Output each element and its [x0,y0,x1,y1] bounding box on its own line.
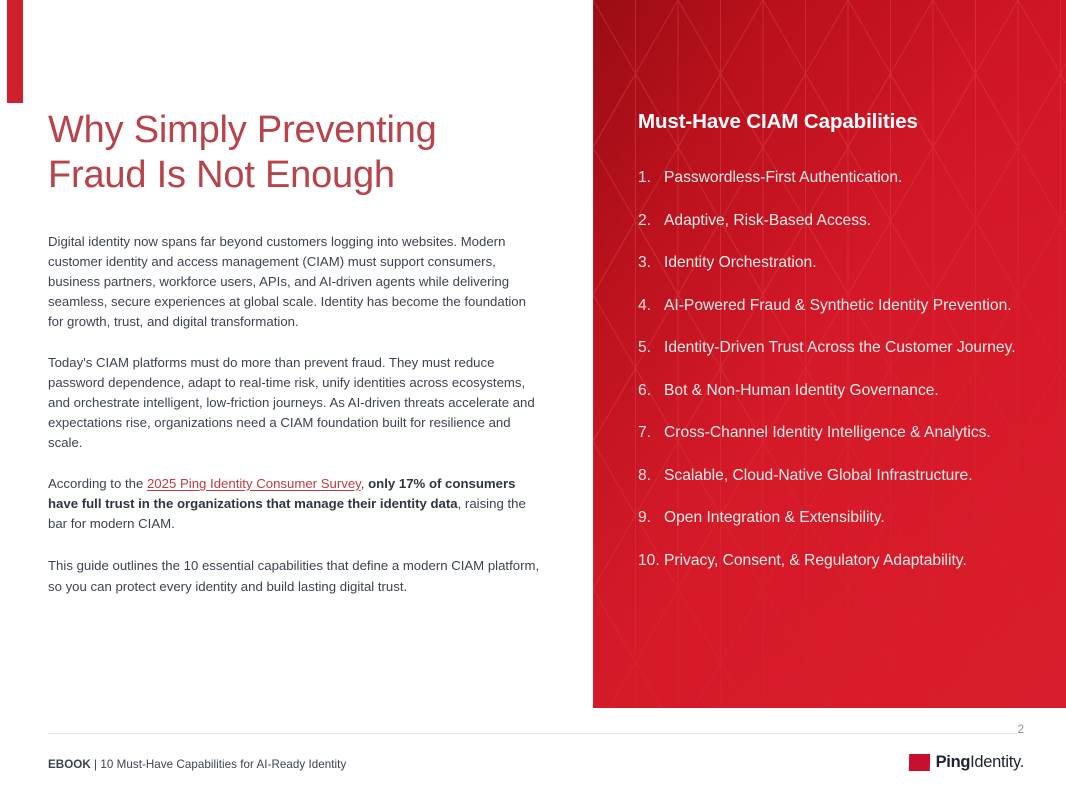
page-number: 2 [1018,724,1024,736]
paragraph-3-comma: , [361,476,368,491]
list-item-label: AI-Powered Fraud & Synthetic Identity Pr… [664,295,1036,317]
list-item-label: Privacy, Consent, & Regulatory Adaptabil… [664,550,1036,572]
list-item: 1. Passwordless-First Authentication. [638,167,1036,189]
list-item-label: Open Integration & Extensibility. [664,507,1036,529]
footer-label: EBOOK | 10 Must-Have Capabilities for AI… [48,758,346,771]
list-item-number: 1. [638,167,664,189]
logo-brand-ping: Ping [936,753,971,771]
paragraph-3: According to the 2025 Ping Identity Cons… [48,474,540,535]
footer-label-strong: EBOOK [48,758,91,771]
list-item-number: 3. [638,252,664,274]
list-item-label: Identity Orchestration. [664,252,1036,274]
ebook-page: Why Simply Preventing Fraud Is Not Enoug… [0,0,1066,800]
list-item-number: 10. [638,550,664,572]
paragraph-2: Today's CIAM platforms must do more than… [48,353,540,454]
list-item-number: 6. [638,380,664,402]
list-item-number: 4. [638,295,664,317]
list-item-label: Identity-Driven Trust Across the Custome… [664,337,1036,359]
list-item-number: 8. [638,465,664,487]
ping-logo-mark-icon [908,754,929,771]
paragraph-4: This guide outlines the 10 essential cap… [48,556,540,596]
capabilities-heading: Must-Have CIAM Capabilities [638,110,1036,134]
list-item: 9. Open Integration & Extensibility. [638,507,1036,529]
list-item-number: 9. [638,507,664,529]
list-item-label: Cross-Channel Identity Intelligence & An… [664,422,1036,444]
logo-brand-identity: Identity. [970,753,1024,771]
list-item: 10. Privacy, Consent, & Regulatory Adapt… [638,550,1036,572]
list-item: 5. Identity-Driven Trust Across the Cust… [638,337,1036,359]
list-item-number: 7. [638,422,664,444]
list-item-number: 5. [638,337,664,359]
list-item: 7. Cross-Channel Identity Intelligence &… [638,422,1036,444]
paragraph-1: Digital identity now spans far beyond cu… [48,232,540,333]
ping-identity-logo: PingIdentity. [909,752,1024,772]
ping-logo-text: PingIdentity. [936,753,1024,772]
list-item: 6. Bot & Non-Human Identity Governance. [638,380,1036,402]
paragraph-3-lead: According to the [48,476,147,491]
body-copy: Digital identity now spans far beyond cu… [48,232,540,597]
footer-divider [48,733,1018,734]
list-item-label: Adaptive, Risk-Based Access. [664,210,1036,232]
page-title: Why Simply Preventing Fraud Is Not Enoug… [48,108,540,198]
list-item-label: Passwordless-First Authentication. [664,167,1036,189]
list-item: 3. Identity Orchestration. [638,252,1036,274]
footer-label-rest: | 10 Must-Have Capabilities for AI-Ready… [91,758,347,771]
capabilities-list: 1. Passwordless-First Authentication. 2.… [638,167,1036,571]
list-item: 4. AI-Powered Fraud & Synthetic Identity… [638,295,1036,317]
left-content-column: Why Simply Preventing Fraud Is Not Enoug… [48,108,540,597]
list-item-number: 2. [638,210,664,232]
list-item: 8. Scalable, Cloud-Native Global Infrast… [638,465,1036,487]
capabilities-panel: Must-Have CIAM Capabilities 1. Passwordl… [593,0,1066,708]
capabilities-content: Must-Have CIAM Capabilities 1. Passwordl… [593,0,1066,708]
top-left-accent-bar [7,0,23,103]
list-item: 2. Adaptive, Risk-Based Access. [638,210,1036,232]
consumer-survey-link[interactable]: 2025 Ping Identity Consumer Survey [147,476,361,491]
list-item-label: Scalable, Cloud-Native Global Infrastruc… [664,465,1036,487]
list-item-label: Bot & Non-Human Identity Governance. [664,380,1036,402]
